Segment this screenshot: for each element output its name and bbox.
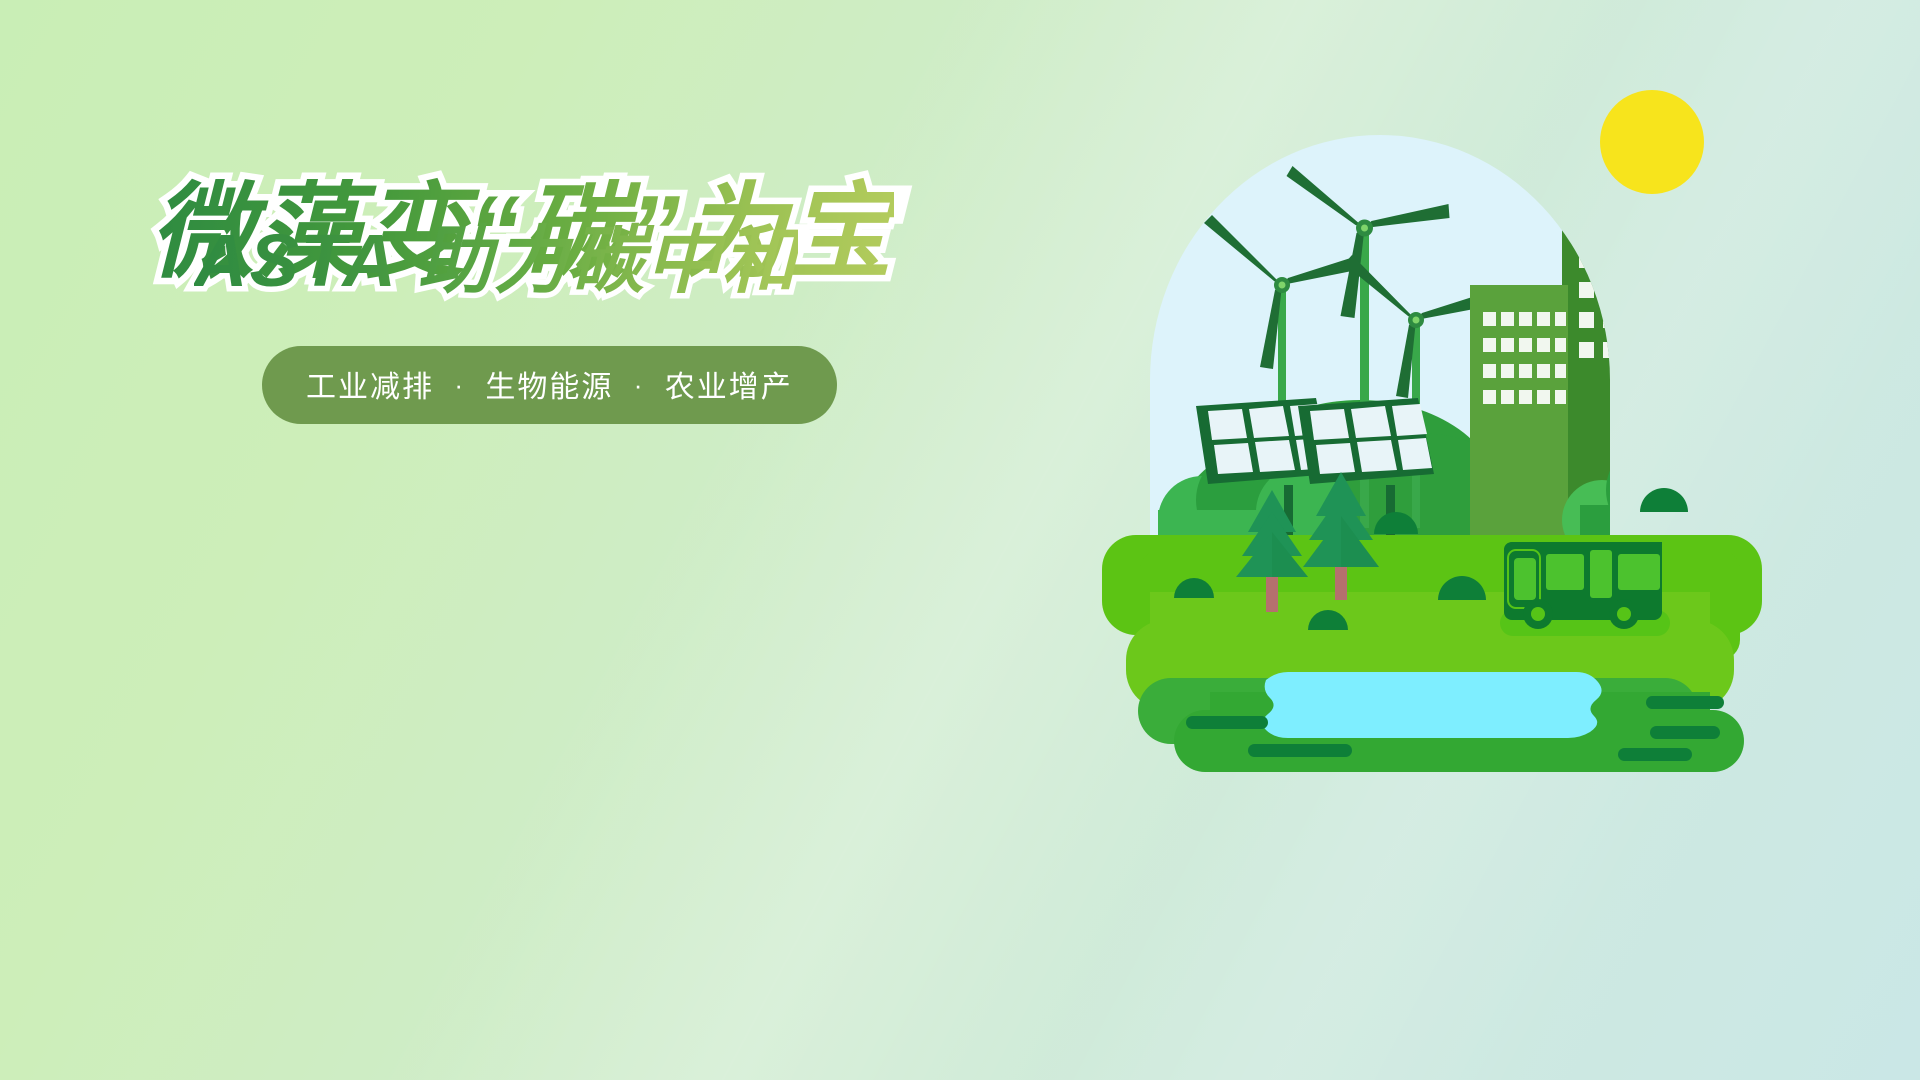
eco-city-illustration <box>1090 80 1790 780</box>
tagline-separator-2: · <box>624 370 655 400</box>
sun-icon <box>1600 90 1704 194</box>
lake <box>1262 672 1601 738</box>
subheadline-text: ASTA 助力碳中和 <box>194 219 798 302</box>
eco-banner: 微藻变“碳”为宝 微藻变“碳”为宝 ASTA 助力碳中和 ASTA 助力碳中和 … <box>0 0 1920 1080</box>
tagline-pill: 工业减排 · 生物能源 · 农业增产 <box>262 346 837 424</box>
tagline-separator-1: · <box>444 370 475 400</box>
tagline-item-1: 工业减排 <box>306 371 434 404</box>
tagline-item-2: 生物能源 <box>485 371 613 404</box>
banner-text-block: 微藻变“碳”为宝 微藻变“碳”为宝 ASTA 助力碳中和 ASTA 助力碳中和 … <box>150 290 990 424</box>
building-front <box>1470 285 1568 555</box>
bus-icon <box>1500 542 1670 636</box>
tagline-item-3: 农业增产 <box>665 371 793 404</box>
